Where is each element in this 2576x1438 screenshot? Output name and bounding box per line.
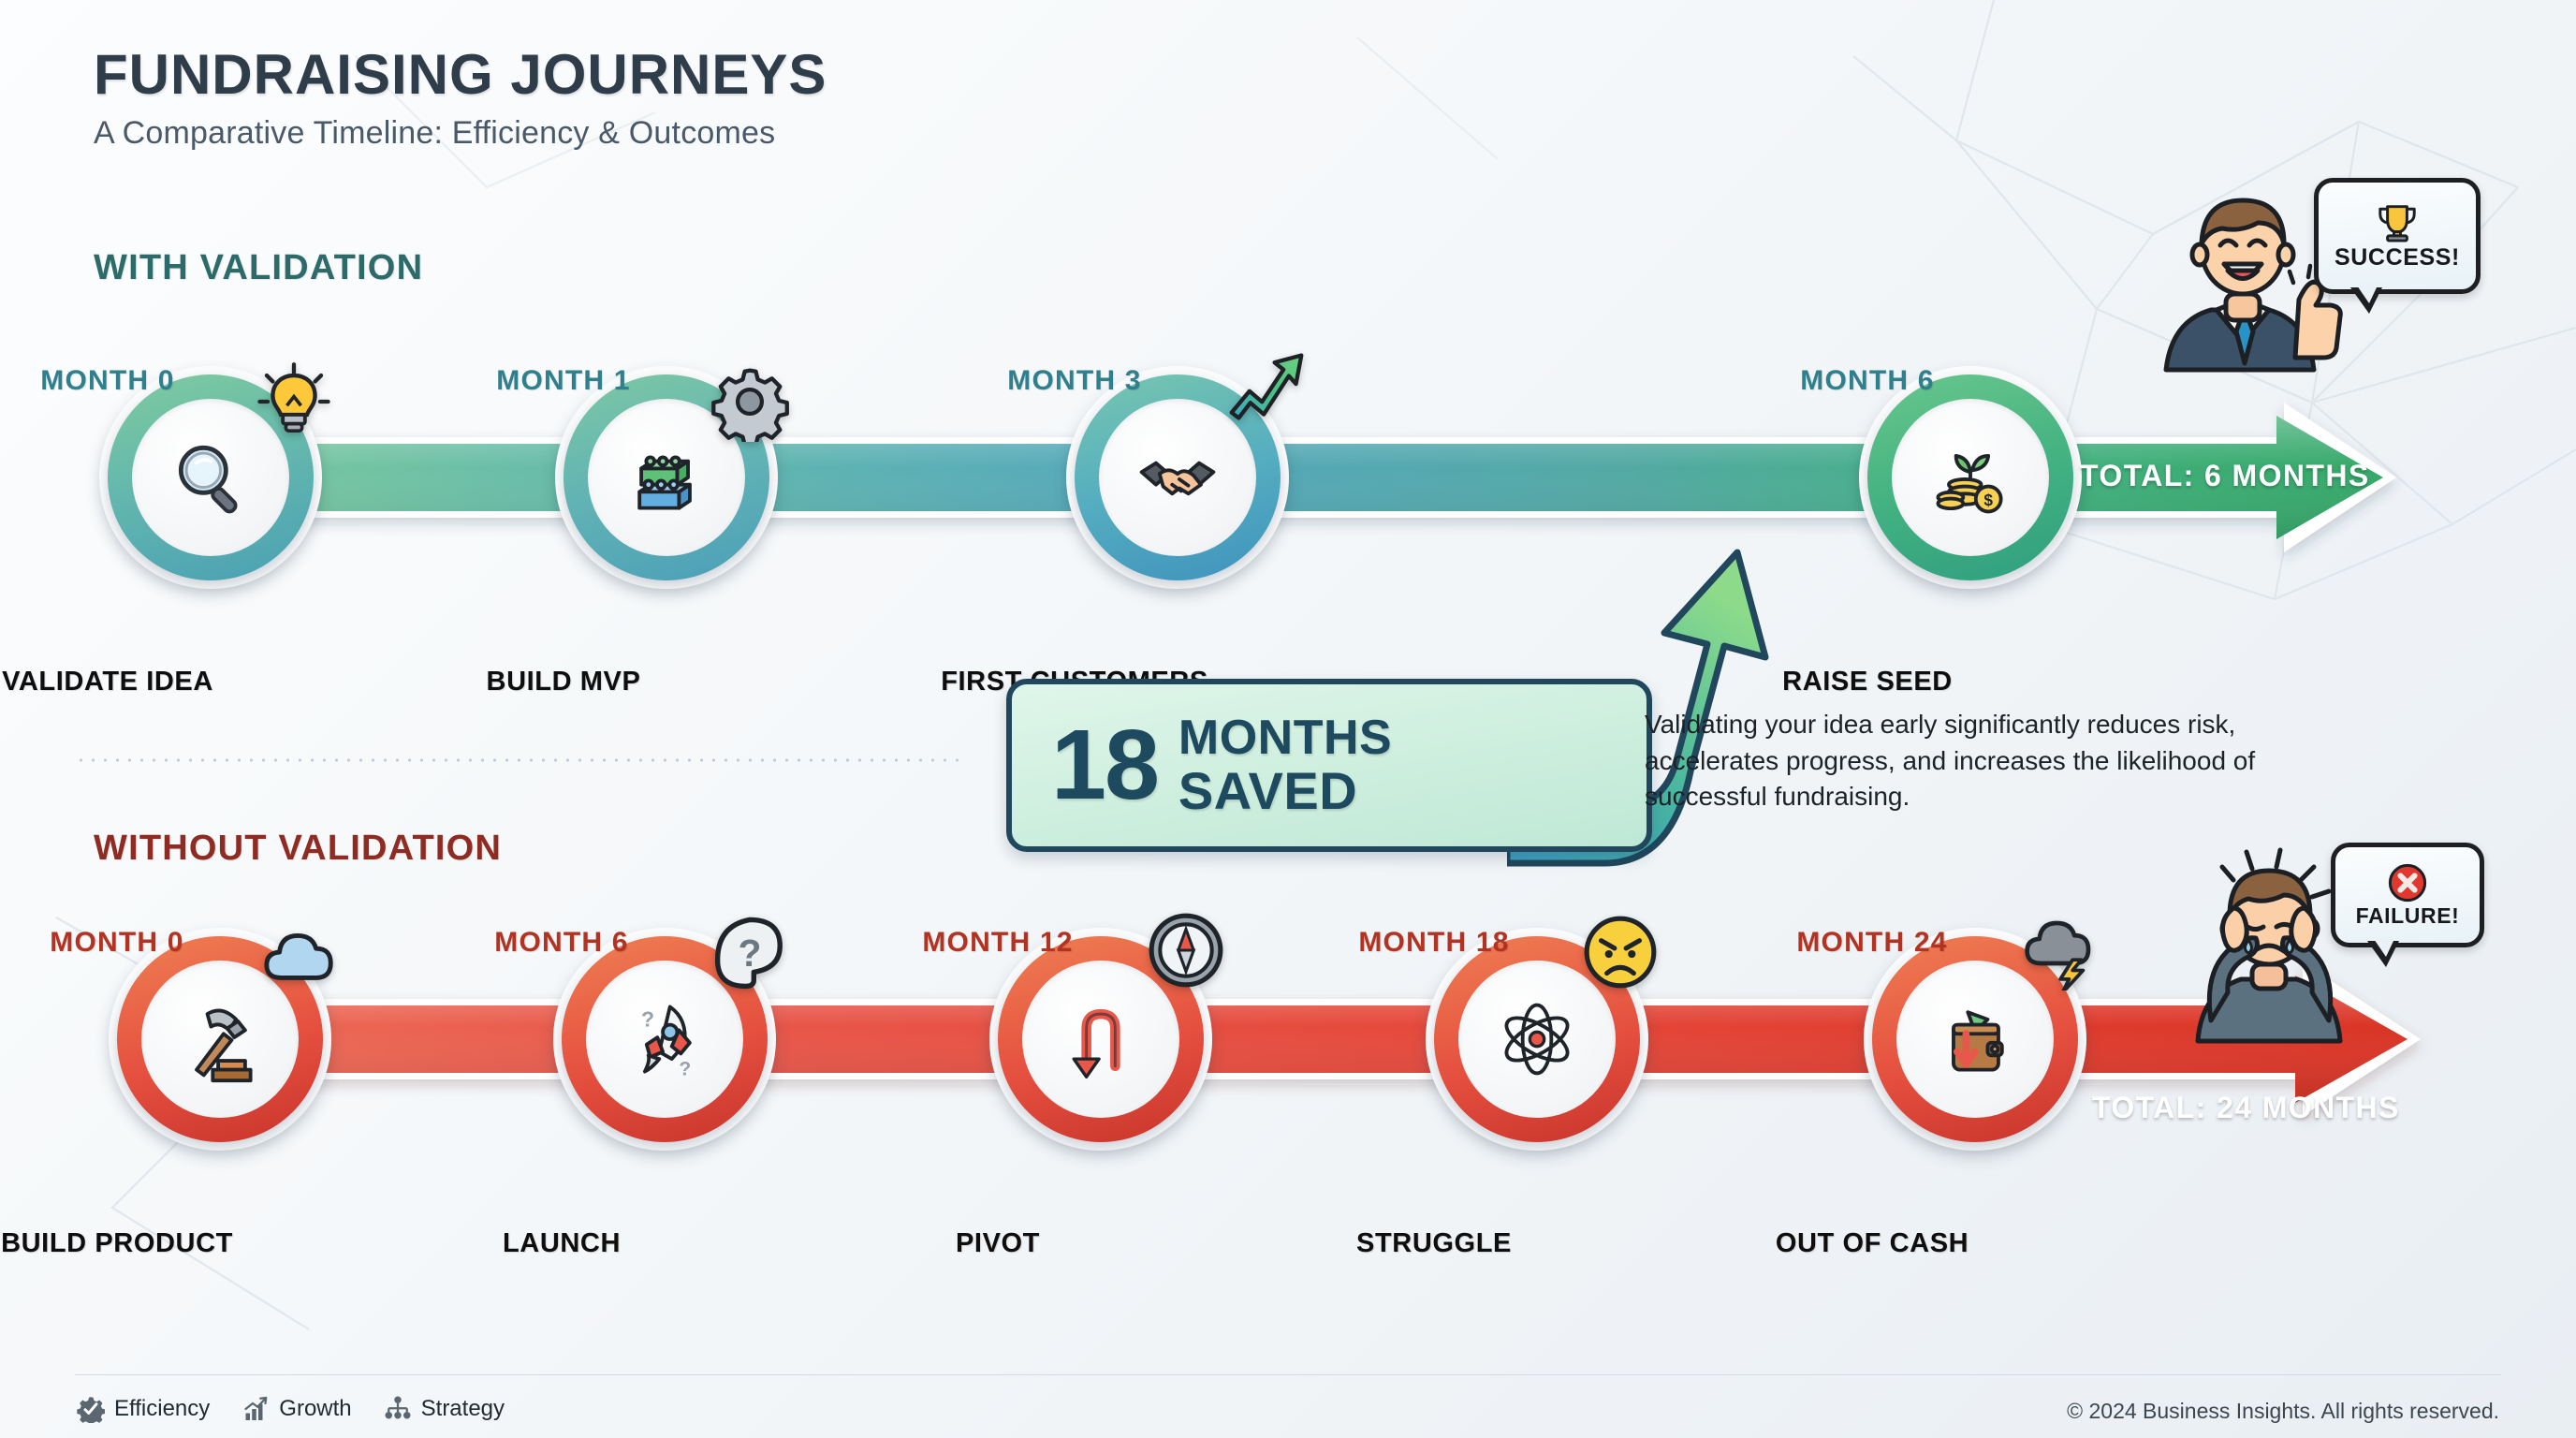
gear-check-icon xyxy=(77,1395,105,1423)
hammer-icon xyxy=(175,994,265,1084)
milestone-struggle[interactable]: MONTH 18 STRUGGLE xyxy=(1434,936,1640,1142)
section-heading-without-validation: WITHOUT VALIDATION xyxy=(94,829,502,869)
savings-description: Validating your idea early significantly… xyxy=(1645,707,2333,815)
milestone-stage-label: OUT OF CASH xyxy=(1666,1228,2078,1259)
svg-text:$: $ xyxy=(1983,491,1993,509)
milestone-pivot[interactable]: MONTH 12 PIVOT xyxy=(998,936,1204,1142)
error-cross-icon xyxy=(2387,862,2428,903)
svg-text:?: ? xyxy=(739,932,762,975)
savings-banner: 18 MONTHS SAVED xyxy=(1006,679,1652,852)
savings-number: 18 xyxy=(1051,718,1158,813)
rocket-icon: ? ? xyxy=(620,994,710,1084)
milestone-launch[interactable]: ? ? ? MONTH 6 LAUNCH xyxy=(562,936,768,1142)
bubble-tail xyxy=(2367,941,2399,967)
header: FUNDRAISING JOURNEYS A Comparative Timel… xyxy=(94,45,827,152)
failure-speech-bubble: FAILURE! xyxy=(2331,843,2484,947)
org-chart-icon xyxy=(384,1395,412,1423)
milestone-month-label: MONTH 0 xyxy=(0,365,276,397)
milestone-month-label: MONTH 12 xyxy=(829,927,1166,959)
milestone-raise-seed[interactable]: $ MONTH 6 RAISE SEED xyxy=(1867,374,2073,580)
milestone-build-product[interactable]: MONTH 0 BUILD PRODUCT xyxy=(117,936,323,1142)
total-label-without-validation: TOTAL: 24 MONTHS xyxy=(2092,1091,2400,1125)
milestone-first-customers[interactable]: MONTH 3 FIRST CUSTOMERS xyxy=(1075,374,1281,580)
footer-item-strategy[interactable]: Strategy xyxy=(384,1395,505,1423)
milestone-month-label: MONTH 18 xyxy=(1266,927,1603,959)
footer-divider xyxy=(75,1374,2501,1375)
savings-verb-label: SAVED xyxy=(1178,766,1392,815)
milestone-validate-idea[interactable]: MONTH 0 VALIDATE IDEA xyxy=(108,374,314,580)
success-speech-bubble: SUCCESS! xyxy=(2314,178,2481,294)
magnifier-icon xyxy=(166,433,256,522)
copyright-notice: © 2024 Business Insights. All rights res… xyxy=(2067,1399,2499,1424)
page-subtitle: A Comparative Timeline: Efficiency & Out… xyxy=(94,115,827,152)
milestone-stage-label: BUILD PRODUCT xyxy=(0,1228,323,1259)
wallet-icon xyxy=(1930,994,2020,1084)
section-heading-with-validation: WITH VALIDATION xyxy=(94,248,423,288)
savings-unit-label: MONTHS xyxy=(1178,715,1392,761)
handshake-icon xyxy=(1133,433,1222,522)
page-title: FUNDRAISING JOURNEYS xyxy=(94,45,827,104)
milestone-stage-label: PIVOT xyxy=(792,1228,1204,1259)
success-bubble-text: SUCCESS! xyxy=(2334,244,2460,271)
section-divider xyxy=(75,758,964,762)
footer-item-label: Efficiency xyxy=(114,1396,210,1422)
milestone-month-label: MONTH 3 xyxy=(906,365,1243,397)
savings-words: MONTHS SAVED xyxy=(1178,715,1392,815)
failure-bubble-text: FAILURE! xyxy=(2356,903,2460,929)
milestone-month-label: MONTH 6 xyxy=(393,927,730,959)
money-plant-icon: $ xyxy=(1925,433,2015,522)
milestone-month-label: MONTH 24 xyxy=(1704,927,2041,959)
total-label-with-validation: TOTAL: 6 MONTHS xyxy=(2080,459,2370,493)
milestone-stage-label: LAUNCH xyxy=(356,1228,768,1259)
milestone-stage-label: BUILD MVP xyxy=(358,667,769,697)
milestone-build-mvp[interactable]: MONTH 1 BUILD MVP xyxy=(563,374,769,580)
footer-item-label: Growth xyxy=(279,1396,351,1422)
infographic-canvas: FUNDRAISING JOURNEYS A Comparative Timel… xyxy=(0,0,2576,1438)
svg-text:?: ? xyxy=(679,1058,691,1079)
atom-icon xyxy=(1492,994,1582,1084)
svg-text:?: ? xyxy=(641,1007,654,1032)
milestone-month-label: MONTH 1 xyxy=(395,365,732,397)
bar-chart-arrow-icon xyxy=(241,1395,270,1423)
milestone-month-label: MONTH 0 xyxy=(0,927,285,959)
trophy-icon xyxy=(2373,201,2422,244)
footer-item-label: Strategy xyxy=(421,1396,505,1422)
footer-item-growth[interactable]: Growth xyxy=(241,1395,351,1423)
footer-tags: Efficiency Growth Strategy xyxy=(77,1395,505,1423)
milestone-stage-label: VALIDATE IDEA xyxy=(0,667,314,697)
milestone-out-of-cash[interactable]: MONTH 24 OUT OF CASH xyxy=(1872,936,2078,1142)
footer-item-efficiency[interactable]: Efficiency xyxy=(77,1395,210,1423)
u-turn-arrow-icon xyxy=(1056,994,1146,1084)
milestone-month-label: MONTH 6 xyxy=(1699,365,2036,397)
bubble-tail xyxy=(2350,287,2382,314)
milestone-stage-label: STRUGGLE xyxy=(1228,1228,1640,1259)
milestone-icon-well: $ xyxy=(1892,399,2049,556)
building-blocks-icon xyxy=(622,433,711,522)
